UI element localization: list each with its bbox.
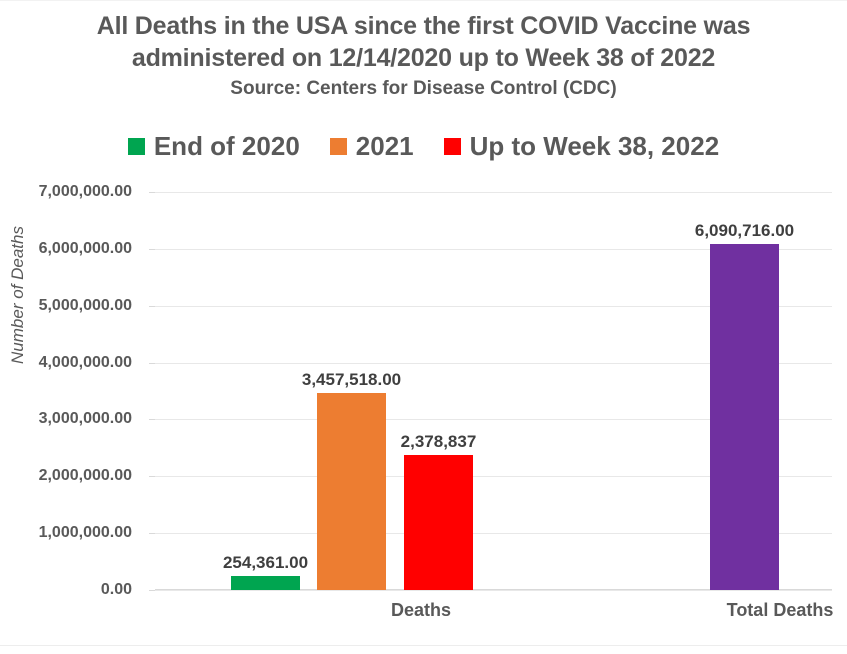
- bar-value-label: 6,090,716.00: [645, 221, 845, 241]
- bar-value-label: 3,457,518.00: [252, 370, 452, 390]
- bar-total-deaths[interactable]: 6,090,716.00: [710, 244, 779, 590]
- bar-up-to-week-38-2022[interactable]: 2,378,837: [404, 455, 473, 590]
- x-axis-category-labels: DeathsTotal Deaths: [155, 600, 832, 634]
- x-axis-category-label: Deaths: [301, 600, 541, 621]
- chart-container: All Deaths in the USA since the first CO…: [0, 0, 847, 654]
- gridline: [155, 590, 832, 591]
- gridline: [155, 192, 832, 193]
- plot-wrapper: Number of Deaths 7,000,000.006,000,000.0…: [0, 0, 847, 654]
- bar-value-label: 2,378,837: [339, 432, 539, 452]
- y-axis-tick-marks: [0, 192, 155, 590]
- bottom-divider: [0, 645, 847, 646]
- x-axis-category-label: Total Deaths: [660, 600, 847, 621]
- plot-area: 254,361.003,457,518.002,378,8376,090,716…: [155, 192, 832, 590]
- bar-end-of-2020[interactable]: 254,361.00: [231, 576, 300, 590]
- bar-2021[interactable]: 3,457,518.00: [317, 393, 386, 590]
